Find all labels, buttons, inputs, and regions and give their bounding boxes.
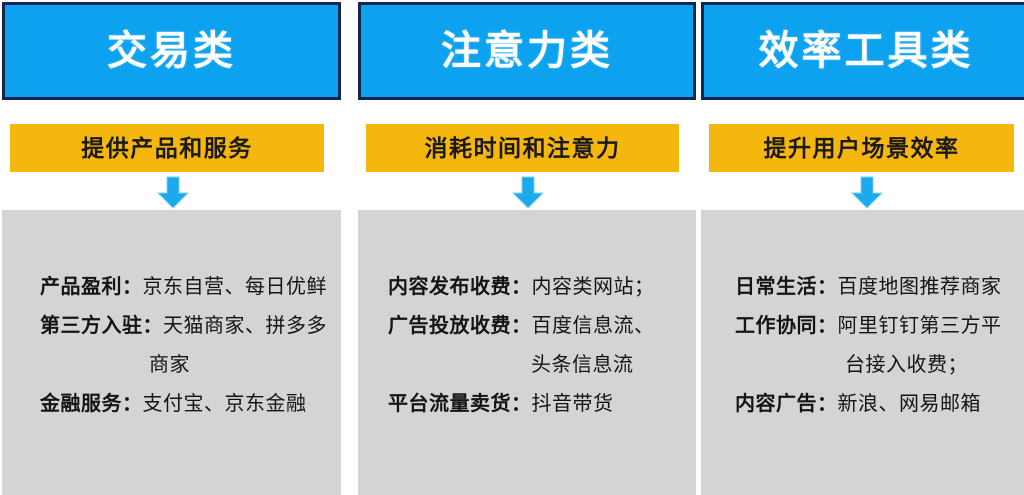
column-content-panel: 日常生活：百度地图推荐商家 工作协同：阿里钉钉第三方平 台接入收费； 内容广告：… [701, 210, 1024, 495]
entry-value: 支付宝、京东金融 [143, 393, 307, 415]
column-subtitle-bar: 提升用户场景效率 [709, 124, 1014, 172]
entry-list: 产品盈利：京东自营、每日优鲜 第三方入驻：天猫商家、拼多多 商家 金融服务：支付… [12, 268, 331, 424]
category-column-attention: 注意力类 消耗时间和注意力 内容发布收费：内容类网站； 广告投放收费：百度信息流… [358, 0, 696, 495]
column-subtitle-text: 消耗时间和注意力 [425, 137, 621, 160]
column-content-panel: 内容发布收费：内容类网站； 广告投放收费：百度信息流、 头条信息流 平台流量卖货… [358, 210, 696, 495]
entry-value: 京东自营、每日优鲜 [143, 276, 328, 298]
entry-value: 新浪、网易邮箱 [838, 393, 982, 415]
list-item: 工作协同：阿里钉钉第三方平 台接入收费； [711, 307, 1021, 385]
category-column-transaction: 交易类 提供产品和服务 产品盈利：京东自营、每日优鲜 第三方入驻：天猫商家、拼多… [2, 0, 341, 495]
list-item: 第三方入驻：天猫商家、拼多多 商家 [12, 307, 331, 385]
column-header-box: 注意力类 [358, 2, 696, 100]
column-subtitle-text: 提供产品和服务 [81, 137, 253, 160]
column-subtitle-bar: 提供产品和服务 [10, 124, 324, 172]
entry-value: 内容类网站； [532, 276, 655, 298]
arrow-down-icon [358, 176, 696, 210]
entry-label: 广告投放收费： [388, 315, 532, 337]
column-subtitle-bar: 消耗时间和注意力 [366, 124, 679, 172]
entry-value-continued: 头条信息流 [388, 346, 682, 385]
arrow-down-icon [2, 176, 341, 210]
column-header-title: 交易类 [107, 31, 236, 71]
entry-value: 抖音带货 [532, 393, 614, 415]
list-item: 金融服务：支付宝、京东金融 [12, 385, 331, 424]
category-column-efficiency: 效率工具类 提升用户场景效率 日常生活：百度地图推荐商家 工作协同：阿里钉钉第三… [701, 0, 1024, 495]
entry-list: 内容发布收费：内容类网站； 广告投放收费：百度信息流、 头条信息流 平台流量卖货… [368, 268, 686, 424]
entry-list: 日常生活：百度地图推荐商家 工作协同：阿里钉钉第三方平 台接入收费； 内容广告：… [711, 268, 1021, 424]
column-header-title: 注意力类 [441, 31, 613, 71]
list-item: 日常生活：百度地图推荐商家 [711, 268, 1021, 307]
diagram-board: 交易类 提供产品和服务 产品盈利：京东自营、每日优鲜 第三方入驻：天猫商家、拼多… [0, 0, 1024, 495]
column-header-box: 交易类 [2, 2, 341, 100]
entry-value: 阿里钉钉第三方平 [838, 315, 1002, 337]
entry-label: 内容发布收费： [388, 276, 532, 298]
column-content-panel: 产品盈利：京东自营、每日优鲜 第三方入驻：天猫商家、拼多多 商家 金融服务：支付… [2, 210, 341, 495]
entry-label: 第三方入驻： [40, 315, 163, 337]
entry-value: 天猫商家、拼多多 [163, 315, 327, 337]
entry-value: 百度地图推荐商家 [838, 276, 1002, 298]
column-header-title: 效率工具类 [759, 31, 974, 71]
list-item: 产品盈利：京东自营、每日优鲜 [12, 268, 331, 307]
entry-value-continued: 商家 [40, 346, 327, 385]
list-item: 平台流量卖货：抖音带货 [368, 385, 686, 424]
list-item: 内容发布收费：内容类网站； [368, 268, 686, 307]
entry-label: 日常生活： [735, 276, 838, 298]
entry-label: 工作协同： [735, 315, 838, 337]
list-item: 内容广告：新浪、网易邮箱 [711, 385, 1021, 424]
list-item: 广告投放收费：百度信息流、 头条信息流 [368, 307, 686, 385]
column-header-box: 效率工具类 [701, 2, 1024, 100]
entry-label: 平台流量卖货： [388, 393, 532, 415]
entry-label: 金融服务： [40, 393, 143, 415]
arrow-down-icon [701, 176, 1024, 210]
entry-label: 内容广告： [735, 393, 838, 415]
column-subtitle-text: 提升用户场景效率 [764, 137, 960, 160]
entry-label: 产品盈利： [40, 276, 143, 298]
entry-value: 百度信息流、 [532, 315, 655, 337]
entry-value-continued: 台接入收费； [735, 346, 1017, 385]
